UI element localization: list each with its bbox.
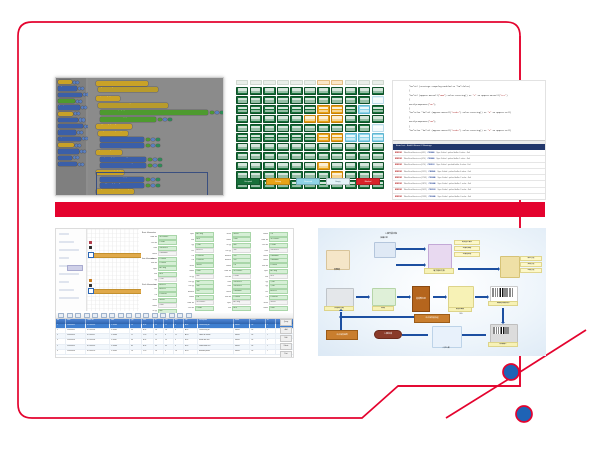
slot-cell-bar	[305, 128, 314, 130]
palette-block-socket[interactable]	[80, 131, 83, 134]
workspace-block-plug[interactable]	[158, 118, 162, 122]
data-grid[interactable]: NoDateOrder NoItemQtyUnitInOutBalLocDesc…	[56, 313, 293, 357]
toolbar-button[interactable]	[152, 313, 158, 318]
toolbar-button[interactable]	[143, 313, 149, 318]
workspace-block[interactable]: then call Notifier1.ShowAlert notice Ple…	[100, 163, 146, 168]
form-field-value[interactable]: OK	[269, 232, 288, 237]
palette-block[interactable]: for each item in list	[58, 124, 83, 128]
form-field-value[interactable]: Chen	[269, 306, 288, 311]
side-button[interactable]: Edit	[280, 335, 292, 342]
slot-cell[interactable]	[317, 143, 329, 151]
slot-cell[interactable]	[317, 115, 329, 123]
slot-cell[interactable]	[331, 162, 343, 170]
form-field-value[interactable]: Confirmed	[232, 289, 251, 294]
slot-cell[interactable]	[372, 105, 384, 113]
toolbar-button[interactable]	[58, 313, 64, 318]
gantt-marker[interactable]	[89, 284, 92, 287]
slot-cell[interactable]	[372, 133, 384, 141]
form-field-value[interactable]: BOX	[232, 306, 251, 311]
form-field-value[interactable]: A4 / 80g	[195, 232, 214, 237]
slot-cell[interactable]	[236, 96, 248, 104]
palette-block-socket[interactable]	[83, 150, 86, 153]
slot-cell[interactable]	[236, 152, 248, 160]
slot-cell[interactable]	[345, 124, 357, 132]
workspace-block[interactable]: when Clock1.Timer do call Web1.Get	[100, 137, 144, 142]
slot-cell[interactable]	[345, 87, 357, 95]
gantt-node[interactable]	[88, 288, 94, 294]
slot-cell[interactable]	[317, 133, 329, 141]
slot-cell[interactable]	[345, 162, 357, 170]
form-field-value[interactable]: A-01-03	[195, 248, 214, 253]
toolbar-button[interactable]	[135, 313, 141, 318]
slot-cell[interactable]	[317, 105, 329, 113]
palette-block-label: for each item in list	[58, 124, 83, 128]
form-field-group: Qty1,200LocA-01-03LotL2014051WhseWH-01Ow…	[253, 284, 288, 311]
slot-cell[interactable]	[372, 87, 384, 95]
slot-cell[interactable]	[304, 105, 316, 113]
slot-cell[interactable]	[317, 87, 329, 95]
form-field-value[interactable]: BOX	[158, 272, 177, 277]
slot-cell[interactable]	[358, 96, 370, 104]
slot-cell-bar	[305, 166, 314, 168]
slot-cell[interactable]	[263, 124, 275, 132]
slot-grid-column-header	[331, 80, 343, 85]
form-field-value[interactable]: 340	[232, 248, 251, 253]
gantt-tree-row[interactable]	[59, 289, 74, 291]
side-button[interactable]: Print	[280, 351, 292, 358]
workspace-block[interactable]: if compare texts get global barcode = em…	[100, 157, 146, 162]
form-field-value[interactable]: 860	[195, 274, 214, 279]
slot-cell[interactable]	[345, 133, 357, 141]
slot-cell[interactable]	[250, 105, 262, 113]
slot-cell[interactable]	[250, 96, 262, 104]
form-field-value[interactable]: A4 / 80g	[269, 269, 288, 274]
table-cell: P-10036	[110, 334, 130, 338]
error-list-row[interactable]: ERRORWmsScanService.cs(2533)CS0246Sync F…	[393, 194, 545, 199]
slot-cell[interactable]	[236, 133, 248, 141]
slot-cell[interactable]	[250, 87, 262, 95]
blocks-workspace[interactable]: when BtnScan.Clickset global barcode to …	[88, 78, 223, 195]
side-button[interactable]: Add	[280, 327, 292, 334]
form-field-value[interactable]: Chen	[158, 303, 177, 308]
slot-cell[interactable]	[372, 124, 384, 132]
flow-node-unload: 卸貨	[372, 306, 394, 311]
slot-cell[interactable]	[236, 124, 248, 132]
workspace-block-plug[interactable]	[146, 138, 150, 142]
form-row: LotL2014051	[179, 258, 214, 263]
form-field-value[interactable]: A-01-03	[269, 289, 288, 294]
error-list-rows[interactable]: ERRORWmsScanService.cs(431)CS0246Sync Fa…	[393, 150, 545, 199]
form-field-label: Out Qty	[179, 285, 194, 287]
form-field-value[interactable]: C-0082	[195, 306, 214, 311]
slot-cell[interactable]	[290, 143, 302, 151]
workspace-block-plug[interactable]	[156, 138, 160, 142]
palette-block[interactable]: open another screen	[58, 162, 77, 166]
flow-icon-barcode-small	[493, 327, 509, 334]
slot-cell[interactable]	[304, 124, 316, 132]
toolbar-button[interactable]	[92, 313, 98, 318]
slot-cell[interactable]	[263, 115, 275, 123]
slot-cell[interactable]	[250, 143, 262, 151]
toolbar-button[interactable]	[118, 313, 124, 318]
workspace-block-plug[interactable]	[210, 111, 214, 115]
gantt-tree-row[interactable]	[59, 297, 79, 299]
slot-grid-column-header	[290, 80, 302, 85]
slot-cell[interactable]	[372, 152, 384, 160]
gantt-tree-row[interactable]	[59, 241, 74, 243]
slot-cell[interactable]	[290, 115, 302, 123]
panel-slot-grid[interactable]: OccupiedPickingReservedEmptyBlocked	[236, 80, 388, 198]
gantt-tree-row[interactable]	[59, 273, 79, 275]
slot-cell[interactable]	[250, 124, 262, 132]
form-field-label: Qty	[142, 279, 157, 281]
gantt-marker[interactable]	[89, 246, 92, 249]
slot-cell-bar	[346, 156, 355, 158]
slot-grid-body[interactable]	[236, 80, 384, 189]
slot-cell[interactable]	[236, 143, 248, 151]
slot-grid-column-header	[236, 80, 248, 85]
slot-cell[interactable]	[277, 105, 289, 113]
palette-block[interactable]: set global to	[58, 86, 77, 90]
toolbar-button[interactable]	[101, 313, 107, 318]
slot-cell[interactable]	[372, 115, 384, 123]
slot-cell[interactable]	[358, 105, 370, 113]
workspace-block[interactable]: set global barcode to get BarcodeScanner…	[98, 87, 158, 92]
panel-blocks-editor[interactable]: when Screen1.Initializeset global tocall…	[55, 77, 224, 196]
slot-cell[interactable]	[317, 124, 329, 132]
workspace-block-plug[interactable]	[156, 144, 160, 148]
gantt-tree-row[interactable]	[59, 257, 69, 259]
form-field-value[interactable]: Confirmed	[269, 258, 288, 263]
palette-block-socket[interactable]	[82, 118, 85, 121]
palette-block-socket[interactable]	[81, 163, 84, 166]
toolbar-button[interactable]	[126, 313, 132, 318]
slot-cell-bar	[278, 138, 287, 140]
form-field-value[interactable]: SO-200145	[158, 235, 177, 240]
form-field-value[interactable]: SO-200145	[195, 300, 214, 305]
form-field-value[interactable]: WH-01	[269, 300, 288, 305]
palette-block-socket[interactable]	[79, 100, 82, 103]
palette-block[interactable]: if then	[58, 99, 75, 103]
slot-cell[interactable]	[277, 133, 289, 141]
gantt-tree-row[interactable]	[59, 249, 79, 251]
toolbar-button[interactable]	[109, 313, 115, 318]
form-field-value[interactable]: 1,200	[195, 243, 214, 248]
gantt-marker[interactable]	[89, 279, 92, 282]
slot-cell[interactable]	[345, 143, 357, 151]
workspace-block-plug[interactable]	[220, 111, 224, 115]
toolbar-button[interactable]	[84, 313, 90, 318]
workspace-block[interactable]: then call Notifier1.ShowAlert notice Ple…	[98, 103, 168, 108]
slot-cell[interactable]	[236, 105, 248, 113]
panel-wms-app[interactable]: Basic InformationOrder NoSO-200145Cust N…	[55, 228, 294, 358]
gantt-marker[interactable]	[89, 241, 92, 244]
slot-cell[interactable]	[331, 133, 343, 141]
palette-block[interactable]: Clock1.Timer	[58, 143, 74, 147]
workspace-block[interactable]: if compare texts get global barcode = em…	[96, 96, 120, 101]
workspace-block-plug[interactable]	[153, 158, 157, 162]
slot-cell[interactable]	[290, 133, 302, 141]
palette-block[interactable]: join	[58, 130, 76, 134]
form-field-value[interactable]: L2014051	[195, 258, 214, 263]
panel-code-editor[interactable]: "kw">if (Settings.stopFlag.Enabled == "k…	[392, 80, 546, 200]
slot-cell[interactable]	[290, 152, 302, 160]
slot-cell[interactable]	[317, 96, 329, 104]
slot-cell[interactable]	[358, 124, 370, 132]
slot-cell-bar	[346, 100, 355, 102]
slot-cell[interactable]	[304, 162, 316, 170]
workspace-block[interactable]: set TxtLoc.Text to select list item list…	[100, 117, 156, 122]
table-cell: BOX	[142, 324, 154, 328]
toolbar-button[interactable]	[75, 313, 81, 318]
slot-cell-bar	[238, 91, 247, 93]
toolbar-button[interactable]	[160, 313, 166, 318]
palette-block-socket[interactable]	[77, 112, 80, 115]
slot-cell[interactable]	[250, 152, 262, 160]
form-field-value[interactable]: OK	[195, 295, 214, 300]
slot-cell[interactable]	[372, 143, 384, 151]
slot-cell[interactable]	[331, 115, 343, 123]
slot-cell[interactable]	[358, 152, 370, 160]
table-cell: WH-02	[234, 350, 250, 354]
slot-cell[interactable]	[263, 143, 275, 151]
slot-cell[interactable]	[236, 87, 248, 95]
form-field-value[interactable]: L2014051	[158, 292, 177, 297]
table-cell: BOX	[142, 345, 154, 349]
workspace-block[interactable]: call TinyDB1.StoreValue tag scanlog valu…	[98, 131, 128, 136]
workspace-block-plug[interactable]	[146, 144, 150, 148]
form-field-value[interactable]: 340	[195, 284, 214, 289]
slot-cell[interactable]	[277, 152, 289, 160]
table-row[interactable]: 62014/05/06SO-200150P-1003918PCS18018B-0…	[56, 350, 293, 355]
slot-cell[interactable]	[250, 162, 262, 170]
blocks-palette[interactable]: when Screen1.Initializeset global tocall…	[56, 78, 86, 195]
slot-cell[interactable]	[277, 115, 289, 123]
slot-cell[interactable]	[290, 124, 302, 132]
slot-cell[interactable]	[263, 133, 275, 141]
workspace-block-plug[interactable]	[158, 158, 162, 162]
slot-cell[interactable]	[358, 133, 370, 141]
slot-cell[interactable]	[317, 162, 329, 170]
toolbar-button[interactable]	[169, 313, 175, 318]
form-field-value[interactable]: A4 / 80g	[158, 266, 177, 271]
form-field-value[interactable]: OK	[232, 263, 251, 268]
form-field-value[interactable]: P-10034	[158, 261, 177, 266]
slot-cell-bar	[278, 147, 287, 149]
slot-cell[interactable]	[263, 162, 275, 170]
table-cell: WH-01	[234, 329, 250, 333]
legend-swatch: Empty	[326, 178, 350, 185]
slot-cell[interactable]	[250, 115, 262, 123]
workspace-block[interactable]: set LblQty.Text to get global qty	[96, 124, 132, 129]
slot-cell[interactable]	[304, 143, 316, 151]
form-field-value[interactable]: A4 / 80g	[232, 300, 251, 305]
workspace-block-label: when Clock1.Timer do call Web1.Get	[100, 137, 144, 142]
table-cell: OK	[250, 345, 266, 349]
slot-cell[interactable]	[345, 115, 357, 123]
workspace-block-plug[interactable]	[151, 138, 155, 142]
slot-cell[interactable]	[358, 162, 370, 170]
form-field-value[interactable]: 860	[232, 243, 251, 248]
form-field-value[interactable]: P-10034	[269, 263, 288, 268]
slot-cell[interactable]	[277, 87, 289, 95]
palette-block[interactable]: get responseContent	[58, 105, 80, 109]
slot-cell[interactable]	[345, 96, 357, 104]
slot-cell[interactable]	[290, 96, 302, 104]
palette-block-socket[interactable]	[76, 156, 79, 159]
error-path: WmsScanService.cs(1121)	[404, 171, 427, 173]
form-field-value[interactable]: L2014051	[269, 295, 288, 300]
form-field-value[interactable]: 520	[232, 258, 251, 263]
slot-cell[interactable]	[263, 87, 275, 95]
toolbar-button[interactable]	[67, 313, 73, 318]
error-list-tab[interactable]: Error List - Build 0 Errors 0 Warnings	[393, 144, 545, 150]
toolbar-button[interactable]	[177, 313, 183, 318]
slot-cell[interactable]	[372, 96, 384, 104]
form-field-value[interactable]: BOX	[269, 274, 288, 279]
side-button[interactable]: Delete	[280, 343, 292, 350]
slot-cell[interactable]	[277, 96, 289, 104]
form-field-value[interactable]: Chen	[232, 237, 251, 242]
table-cell: A-02	[184, 329, 198, 333]
form-field-value[interactable]: 1,200	[158, 277, 177, 282]
workspace-block[interactable]: when BtnScan.Click	[96, 81, 148, 86]
flow-arrow	[458, 268, 498, 270]
form-field-value[interactable]: C-0082	[232, 274, 251, 279]
palette-block[interactable]: when Screen1.Initialize	[58, 80, 72, 84]
slot-cell-bar	[360, 107, 369, 109]
slot-cell[interactable]	[358, 115, 370, 123]
form-field-value[interactable]: WH-01	[158, 298, 177, 303]
table-cell: BOX	[142, 329, 154, 333]
detail-form[interactable]: Basic InformationOrder NoSO-200145Cust N…	[141, 229, 293, 311]
palette-block[interactable]: TinyDB1.StoreValue	[58, 137, 81, 141]
flow-arrow-head	[339, 309, 343, 311]
slot-cell[interactable]	[317, 152, 329, 160]
table-cell: 36	[130, 329, 142, 333]
slot-cell[interactable]	[331, 143, 343, 151]
slot-cell-bar	[360, 138, 369, 140]
slot-cell[interactable]	[331, 124, 343, 132]
form-field-value[interactable]: Chen	[195, 269, 214, 274]
form-field-value[interactable]: C-0082	[269, 243, 288, 248]
palette-block[interactable]: Notifier1.ShowAlert	[58, 149, 79, 153]
form-field-value[interactable]: WH-01	[195, 263, 214, 268]
toolbar-button[interactable]	[186, 313, 192, 318]
form-field-value[interactable]: SO-200145	[269, 237, 288, 242]
slot-cell[interactable]	[304, 152, 316, 160]
workspace-block[interactable]: when BtnScan.Click	[100, 143, 144, 148]
form-field-label: Loc	[142, 288, 157, 290]
slot-cell[interactable]	[358, 143, 370, 151]
form-field-value[interactable]: SO-200145	[232, 269, 251, 274]
slot-cell[interactable]	[290, 162, 302, 170]
table-cell: 18	[130, 350, 142, 354]
flow-icon-forklift	[372, 288, 396, 306]
workspace-block-plug[interactable]	[215, 111, 219, 115]
slot-cell[interactable]	[290, 87, 302, 95]
slot-cell[interactable]	[250, 133, 262, 141]
form-field-value[interactable]: P-10034	[232, 295, 251, 300]
form-field-value[interactable]: 520	[195, 289, 214, 294]
form-field-value[interactable]: 2014/05/12	[232, 284, 251, 289]
slot-cell[interactable]	[236, 115, 248, 123]
palette-block-socket[interactable]	[78, 144, 81, 147]
form-field-value[interactable]: 2014/05/12	[269, 248, 288, 253]
slot-cell[interactable]	[331, 152, 343, 160]
slot-cell[interactable]	[372, 162, 384, 170]
data-grid-body[interactable]: 12014/05/01SO-200145P-1003424BOX12120A-0…	[56, 324, 293, 356]
workspace-block[interactable]: set global barcode to get BarcodeScanner…	[96, 150, 122, 155]
slot-cell[interactable]	[345, 105, 357, 113]
workspace-block-plug[interactable]	[153, 164, 157, 168]
form-field-value[interactable]: 2014/05/12	[158, 246, 177, 251]
slot-cell[interactable]	[304, 96, 316, 104]
form-row: Item NoP-10034	[142, 261, 177, 266]
slot-cell[interactable]	[358, 87, 370, 95]
form-field-value[interactable]: Confirmed	[158, 251, 177, 256]
form-field-value[interactable]: A-01-03	[158, 287, 177, 292]
palette-block[interactable]: close screen	[58, 156, 72, 160]
flow-arrow	[356, 296, 368, 298]
slot-cell[interactable]	[263, 96, 275, 104]
slot-cell[interactable]	[304, 115, 316, 123]
form-field-label: Memo	[216, 265, 231, 267]
slot-cell[interactable]	[331, 87, 343, 95]
slot-cell[interactable]	[304, 87, 316, 95]
gantt-timeline[interactable]	[87, 229, 139, 311]
workspace-block[interactable]: else call Web1.PostText text join get gl…	[100, 110, 208, 115]
workspace-block-plug[interactable]	[163, 118, 167, 122]
form-row: Qty1,200	[179, 243, 214, 248]
workspace-block-plug[interactable]	[148, 158, 152, 162]
palette-block[interactable]: set Label1.Text	[58, 112, 73, 116]
palette-block[interactable]: list item	[58, 118, 78, 122]
gantt-tree-row[interactable]	[59, 281, 69, 283]
form-field-value[interactable]: C-0082	[158, 240, 177, 245]
slot-cell[interactable]	[304, 133, 316, 141]
form-field-value[interactable]: BOX	[195, 237, 214, 242]
slot-cell[interactable]	[345, 152, 357, 160]
side-button[interactable]: Query	[280, 319, 292, 326]
slot-cell[interactable]	[263, 105, 275, 113]
form-field-value[interactable]: 1,200	[269, 284, 288, 289]
palette-block[interactable]: call Web1.Get	[58, 93, 82, 97]
code-text-area[interactable]: "kw">if (Settings.stopFlag.Enabled == "k…	[393, 81, 545, 139]
slot-cell[interactable]	[236, 162, 248, 170]
workspace-block-plug[interactable]	[158, 164, 162, 168]
workspace-block-plug[interactable]	[148, 164, 152, 168]
slot-cell[interactable]	[331, 96, 343, 104]
palette-block-socket[interactable]	[81, 87, 84, 90]
gantt-tree-row[interactable]	[59, 233, 69, 235]
slot-cell[interactable]	[263, 152, 275, 160]
form-field-label: Spec	[216, 302, 231, 304]
workspace-block-plug[interactable]	[151, 144, 155, 148]
palette-block-socket[interactable]	[76, 81, 79, 84]
slot-cell-bar	[238, 100, 247, 102]
form-field-value[interactable]: WH-01	[232, 232, 251, 237]
slot-cell[interactable]	[290, 105, 302, 113]
slot-cell[interactable]	[331, 105, 343, 113]
form-field-label: Order No	[216, 270, 231, 272]
palette-block-socket[interactable]	[84, 106, 87, 109]
slot-cell[interactable]	[277, 124, 289, 132]
slot-cell[interactable]	[277, 162, 289, 170]
workspace-block-plug[interactable]	[168, 118, 172, 122]
slot-cell[interactable]	[277, 143, 289, 151]
gantt-node[interactable]	[88, 252, 94, 258]
